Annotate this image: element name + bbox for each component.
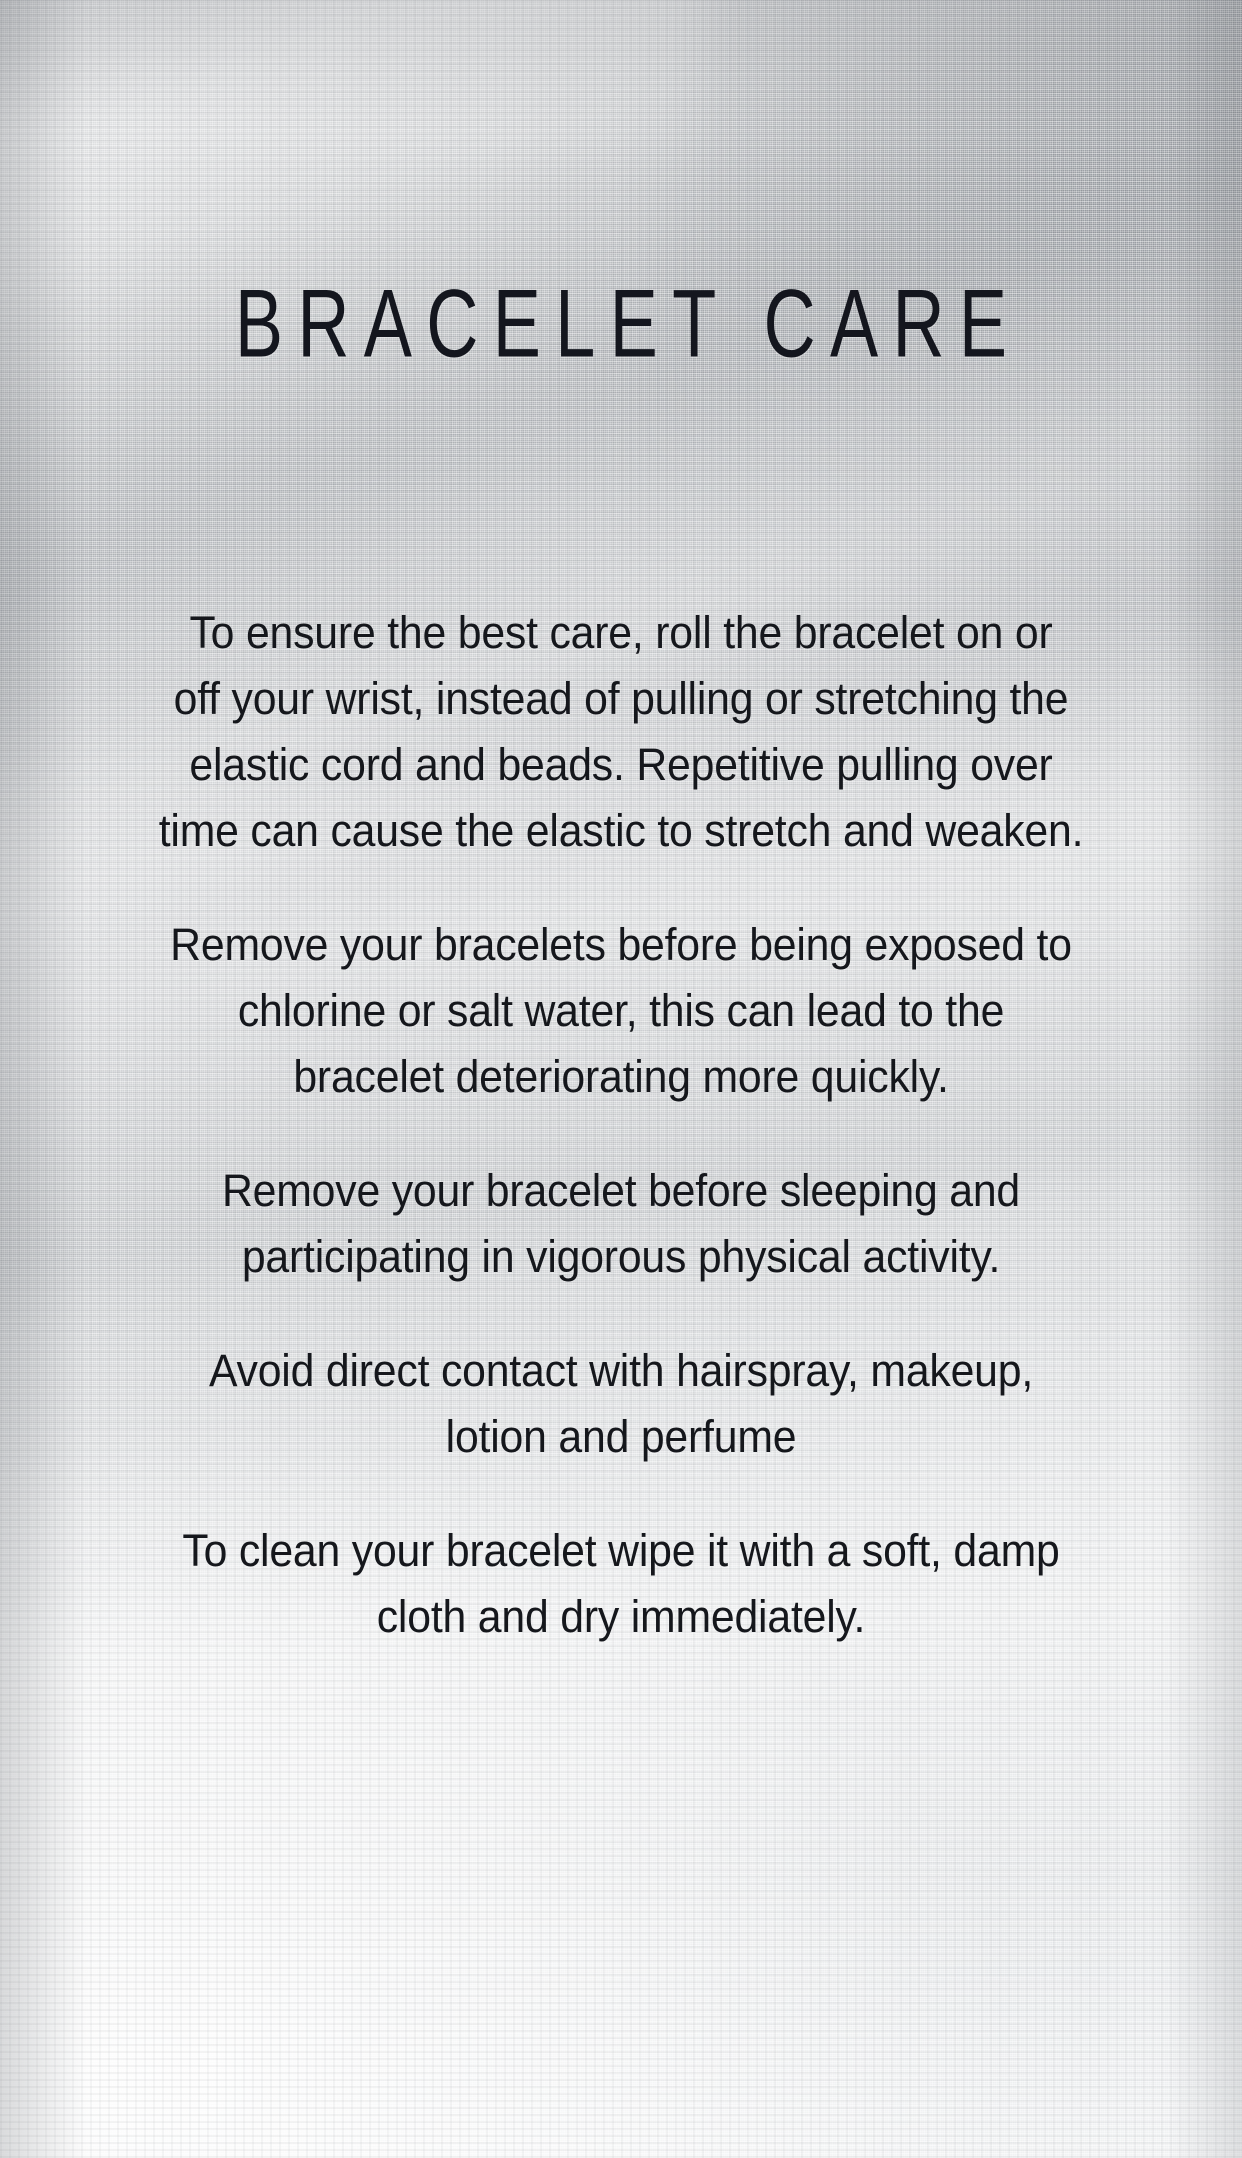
page-title: BRACELET CARE [99,276,1142,372]
care-paragraph-cleaning: To clean your bracelet wipe it with a so… [60,1518,1183,1650]
bracelet-care-card: BRACELET CARE To ensure the best care, r… [0,0,1242,2158]
card-content: BRACELET CARE To ensure the best care, r… [0,0,1242,2158]
care-instructions-list: To ensure the best care, roll the bracel… [0,600,1242,1650]
care-paragraph-water: Remove your bracelets before being expos… [60,912,1183,1110]
care-paragraph-cosmetics: Avoid direct contact with hairspray, mak… [60,1338,1183,1470]
care-paragraph-sleep-activity: Remove your bracelet before sleeping and… [60,1158,1183,1290]
care-paragraph-rolling: To ensure the best care, roll the bracel… [60,600,1183,864]
